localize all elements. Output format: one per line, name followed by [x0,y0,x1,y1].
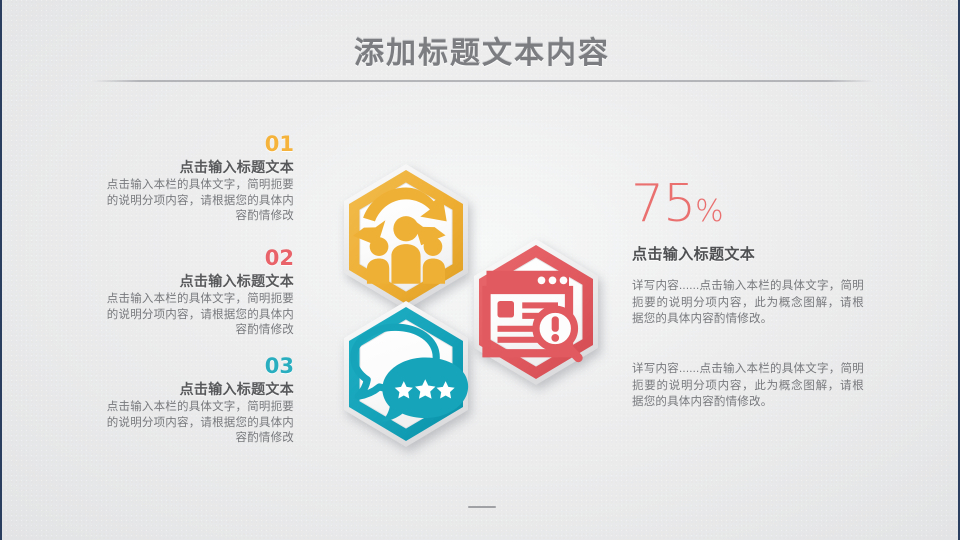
left-block-02[interactable]: 02 点击输入标题文本 点击输入本栏的具体文字，简明扼要的说明分项内容，请根据您… [98,248,294,339]
right-paragraph-1: 详写内容......点击输入本栏的具体文字，简明扼要的说明分项内容，此为概念图解… [632,278,864,328]
title-divider [92,80,874,82]
block-body-03: 点击输入本栏的具体文字，简明扼要的说明分项内容，请根据您的具体内容酌情修改 [98,400,294,447]
block-number-03: 03 [98,356,294,376]
document-search-icon [470,238,602,386]
chat-bubbles-stars-icon [340,300,472,448]
left-block-01[interactable]: 01 点击输入标题文本 点击输入本栏的具体文字，简明扼要的说明分项内容，请根据您… [98,134,294,225]
block-number-02: 02 [98,248,294,268]
page-title: 添加标题文本内容 [2,28,960,72]
block-body-01: 点击输入本栏的具体文字，简明扼要的说明分项内容，请根据您的具体内容酌情修改 [98,178,294,225]
block-body-02: 点击输入本栏的具体文字，简明扼要的说明分项内容，请根据您的具体内容酌情修改 [98,292,294,339]
left-block-03[interactable]: 03 点击输入标题文本 点击输入本栏的具体文字，简明扼要的说明分项内容，请根据您… [98,356,294,447]
bottom-dash-mark [468,506,496,508]
block-heading-03: 点击输入标题文本 [98,380,294,398]
hexagon-teal[interactable] [340,300,472,448]
block-heading-01: 点击输入标题文本 [98,158,294,176]
hexagon-red[interactable] [470,238,602,386]
block-number-01: 01 [98,134,294,154]
slide-canvas: 添加标题文本内容 01 点击输入标题文本 点击输入本栏的具体文字，简明扼要的说明… [0,0,960,540]
percentage-value: 75% [631,178,724,230]
percentage-sign: % [695,194,724,229]
team-rotation-icon [340,163,472,311]
percentage-number: 75 [631,174,695,234]
hexagon-orange[interactable] [340,163,472,311]
right-paragraph-2: 详写内容......点击输入本栏的具体文字，简明扼要的说明分项内容，此为概念图解… [632,361,864,411]
block-heading-02: 点击输入标题文本 [98,272,294,290]
right-heading: 点击输入标题文本 [632,243,755,264]
